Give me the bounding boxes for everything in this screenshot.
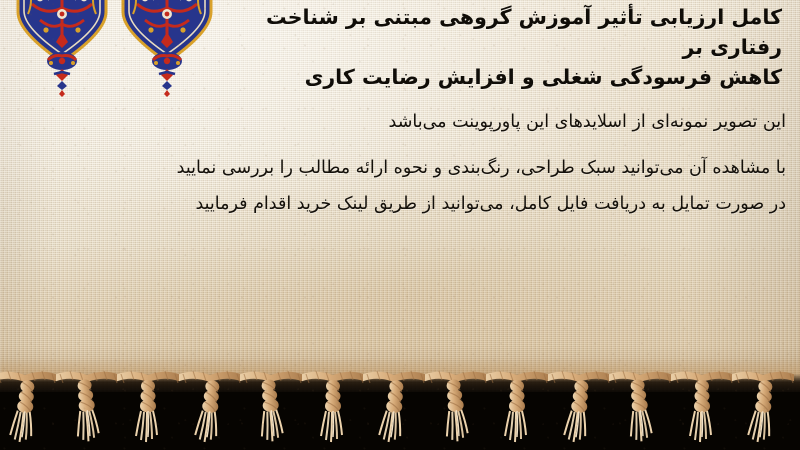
fringe-tassel — [548, 366, 610, 450]
fringe-tassel — [302, 366, 364, 450]
fringe-tassel — [117, 366, 179, 450]
fringe-tassel — [425, 366, 487, 450]
fringe-tassel — [486, 366, 548, 450]
fringe-tassel — [671, 366, 733, 450]
fringe-tassel — [732, 366, 794, 450]
slide-title: کامل ارزیابی تأثیر آموزش گروهی مبتنی بر … — [192, 2, 782, 92]
fringe-tassel — [363, 366, 425, 450]
fringe-tassel — [179, 366, 241, 450]
slide-title-line-2: کاهش فرسودگی شغلی و افزایش رضایت کاری — [192, 62, 782, 92]
fringe-tassel — [56, 366, 118, 450]
fringe-tassel — [609, 366, 671, 450]
slide-title-line-1: کامل ارزیابی تأثیر آموزش گروهی مبتنی بر … — [192, 2, 782, 62]
slide-body: این تصویر نمونه‌ای از اسلایدهای این پاور… — [14, 112, 786, 214]
slide-body-line-2: با مشاهده آن می‌توانید سبک طراحی، رنگ‌بن… — [14, 158, 786, 178]
slide-canvas: کامل ارزیابی تأثیر آموزش گروهی مبتنی بر … — [0, 0, 800, 450]
slide-body-line-3: در صورت تمایل به دریافت فایل کامل، می‌تو… — [14, 194, 786, 214]
fringe-tassel — [0, 366, 56, 450]
slide-body-line-1: این تصویر نمونه‌ای از اسلایدهای این پاور… — [14, 112, 786, 132]
slide-text-layer: کامل ارزیابی تأثیر آموزش گروهی مبتنی بر … — [0, 0, 800, 392]
carpet-fringe — [0, 366, 800, 450]
fringe-tassel — [240, 366, 302, 450]
